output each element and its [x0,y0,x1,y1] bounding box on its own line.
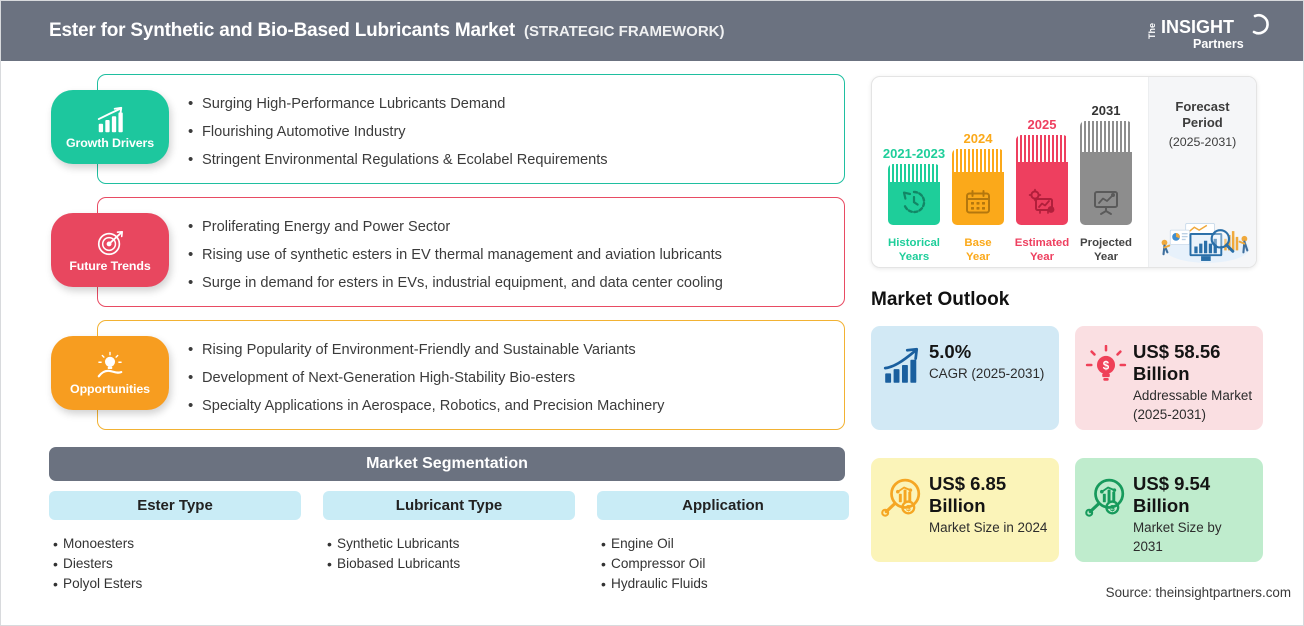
segmentation-list: Engine Oil Compressor Oil Hydraulic Flui… [597,534,849,594]
source-note: Source: theinsightpartners.com [1106,585,1291,600]
lightbulb-dollar-icon: $ [1085,345,1127,387]
header-bar: Ester for Synthetic and Bio-Based Lubric… [1,1,1304,61]
list-item: Rising Popularity of Environment-Friendl… [202,336,844,364]
list-item: Surge in demand for esters in EVs, indus… [202,269,844,297]
card-label: Market Size in 2024 [929,518,1049,537]
forecast-title: Forecast Period [1149,99,1256,131]
segmentation-column-application: Application Engine Oil Compressor Oil Hy… [597,491,849,594]
timeline-bars: 2021-2023 HistoricalYears [872,77,1150,268]
svg-text:$: $ [1110,503,1115,513]
badge-opportunities[interactable]: Opportunities [51,336,169,410]
timeline-year-label: 2021-2023 [883,146,945,161]
list-item: Synthetic Lubricants [337,534,575,554]
list-item: Diesters [63,554,301,574]
market-segmentation-title: Market Segmentation [49,447,845,481]
timeline-bar-solid [888,182,940,225]
timeline-caption: EstimatedYear [1015,236,1069,264]
bullet-list-opportunities: Rising Popularity of Environment-Friendl… [98,321,844,420]
timeline-caption-line1: Projected [1080,237,1132,249]
card-value: US$ 6.85 Billion [929,473,1049,517]
timeline-bar-stripe [1016,135,1068,162]
logo-the-text: The [1147,23,1157,39]
timeline-year-label: 2025 [1028,117,1057,132]
timeline-caption-line2: Year [1094,251,1118,263]
calendar-icon [964,188,992,216]
timeline-bar-solid [1080,152,1132,225]
timeline-year-label: 2024 [964,131,993,146]
timeline-caption: HistoricalYears [888,236,940,264]
list-item: Rising use of synthetic esters in EV the… [202,241,844,269]
presentation-chart-icon [1092,188,1120,216]
logo-partners-text: Partners [1193,37,1244,51]
segmentation-list: Synthetic Lubricants Biobased Lubricants [323,534,575,574]
logo-insight-text: INSIGHT [1161,17,1234,37]
history-clock-icon [900,188,928,216]
list-item: Development of Next-Generation High-Stab… [202,364,844,392]
list-item: Proliferating Energy and Power Sector [202,213,844,241]
timeline-bar [952,149,1004,225]
segmentation-list: Monoesters Diesters Polyol Esters [49,534,301,594]
timeline-bar-stripe [952,149,1004,172]
timeline-caption-line2: Year [1030,251,1054,263]
panel-opportunities: Rising Popularity of Environment-Friendl… [97,320,845,430]
list-item: Biobased Lubricants [337,554,575,574]
outlook-card-addressable-market: $ US$ 58.56 Billion Addressable Market (… [1075,326,1263,430]
forecast-subtitle: (2025-2031) [1149,135,1256,149]
analytics-gear-icon [1028,188,1056,216]
bullet-list-future-trends: Proliferating Energy and Power Sector Ri… [98,198,844,297]
timeline-bar [1080,121,1132,225]
person-left [1162,240,1170,254]
badge-label: Opportunities [70,382,150,396]
card-value: US$ 9.54 Billion [1133,473,1253,517]
list-item: Flourishing Automotive Industry [202,118,844,146]
timeline-caption-line2: Years [899,251,929,263]
forecast-title-line1: Forecast [1175,99,1229,114]
card-body: US$ 6.85 Billion Market Size in 2024 [929,473,1049,537]
card-value: US$ 58.56 Billion [1133,341,1253,385]
card-value: 5.0% [929,341,1044,363]
card-label: CAGR (2025-2031) [929,364,1044,383]
timeline-bar-solid [952,172,1004,225]
list-item: Stringent Environmental Regulations & Ec… [202,146,844,174]
outlook-card-cagr: 5.0% CAGR (2025-2031) [871,326,1059,430]
badge-label: Growth Drivers [66,136,154,150]
segmentation-header: Lubricant Type [323,491,575,520]
logo-arc-icon [1254,15,1268,33]
timeline-caption-line1: Base [964,237,991,249]
page-subtitle: (STRATEGIC FRAMEWORK) [524,23,725,40]
timeline-caption-line1: Estimated [1015,237,1069,249]
card-label: Addressable Market (2025-2031) [1133,386,1253,424]
svg-text:$: $ [1103,361,1110,373]
list-item: Monoesters [63,534,301,554]
list-item: Compressor Oil [611,554,849,574]
list-item: Engine Oil [611,534,849,554]
card-body: US$ 58.56 Billion Addressable Market (20… [1133,341,1253,424]
badge-label: Future Trends [69,259,150,273]
card-body: 5.0% CAGR (2025-2031) [929,341,1044,383]
hand-lightbulb-icon [95,351,125,381]
panel-future-trends: Proliferating Energy and Power Sector Ri… [97,197,845,307]
timeline-year-label: 2031 [1092,103,1121,118]
timeline-bar-stripe [1080,121,1132,152]
left-column: Surging High-Performance Lubricants Dema… [1,61,863,626]
timeline-caption-line1: Historical [888,237,940,249]
list-item: Specialty Applications in Aerospace, Rob… [202,392,844,420]
business-analytics-illustration [1151,203,1255,265]
segmentation-header: Ester Type [49,491,301,520]
market-outlook-title: Market Outlook [871,289,1009,311]
segmentation-column-lubricant-type: Lubricant Type Synthetic Lubricants Biob… [323,491,575,574]
timeline-caption: ProjectedYear [1080,236,1132,264]
card-body: US$ 9.54 Billion Market Size by 2031 [1133,473,1253,556]
segmentation-header: Application [597,491,849,520]
panel-growth-drivers: Surging High-Performance Lubricants Dema… [97,74,845,184]
right-column: 2021-2023 HistoricalYears [863,61,1304,626]
list-item: Surging High-Performance Lubricants Dema… [202,90,844,118]
outlook-card-market-size-2031: $ US$ 9.54 Billion Market Size by 2031 [1075,458,1263,562]
timeline-bar-solid [1016,162,1068,225]
list-item: Hydraulic Fluids [611,574,849,594]
list-item: Polyol Esters [63,574,301,594]
outlook-card-market-size-2024: $ US$ 6.85 Billion Market Size in 2024 [871,458,1059,562]
infographic-page: Ester for Synthetic and Bio-Based Lubric… [0,0,1304,626]
page-title: Ester for Synthetic and Bio-Based Lubric… [49,20,515,42]
badge-growth-drivers[interactable]: Growth Drivers [51,90,169,164]
timeline-caption: BaseYear [964,236,991,264]
magnifier-chart-dollar-icon: $ [881,477,923,519]
timeline-bar-stripe [888,164,940,182]
bar-chart-arrow-icon [95,105,125,135]
timeline-bar [1016,135,1068,225]
market-timeline-chart: 2021-2023 HistoricalYears [871,76,1257,268]
forecast-title-line2: Period [1182,115,1222,130]
magnifier-chart-dollar-icon: $ [1085,477,1127,519]
forecast-period-panel: Forecast Period (2025-2031) [1148,77,1256,268]
timeline-bar [888,164,940,225]
growth-chart-icon [881,345,923,387]
the-insight-partners-logo: The INSIGHT Partners [1147,11,1281,53]
svg-text:$: $ [906,503,911,513]
timeline-caption-line2: Year [966,251,990,263]
target-dart-icon [95,228,125,258]
bullet-list-growth-drivers: Surging High-Performance Lubricants Dema… [98,75,844,174]
badge-future-trends[interactable]: Future Trends [51,213,169,287]
segmentation-column-ester-type: Ester Type Monoesters Diesters Polyol Es… [49,491,301,594]
card-label: Market Size by 2031 [1133,518,1253,556]
